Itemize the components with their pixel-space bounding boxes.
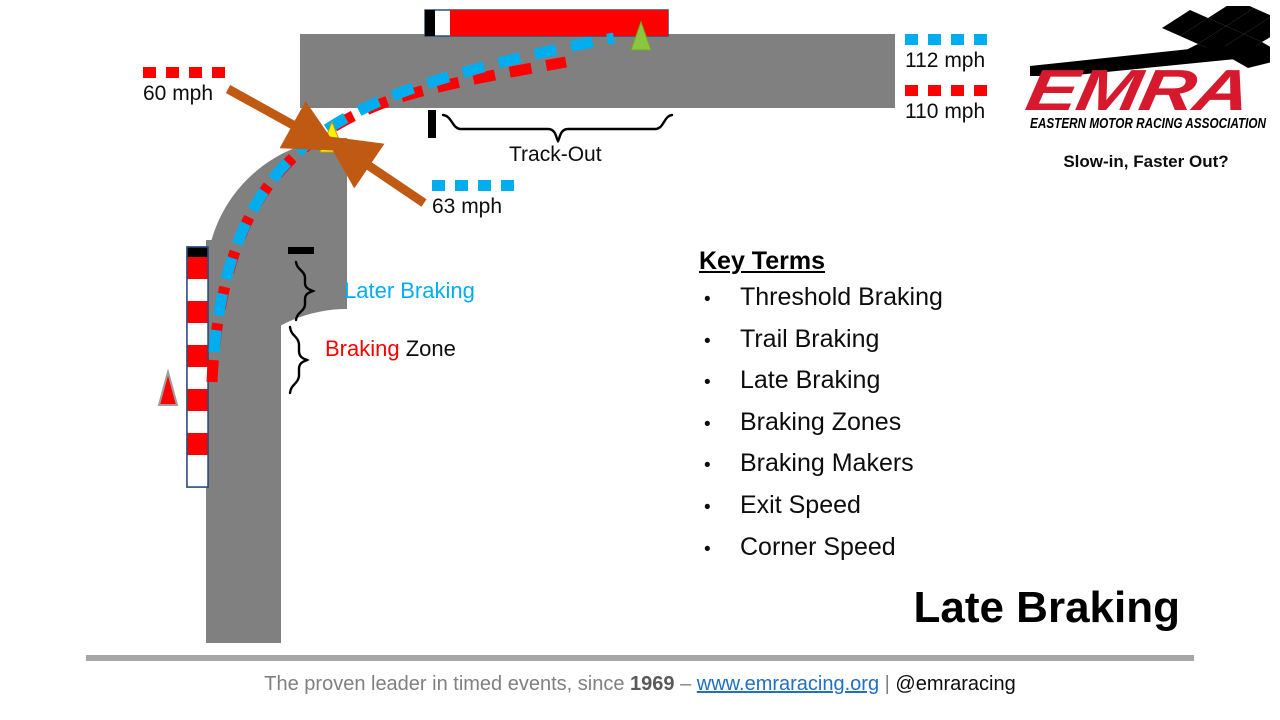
legend-exit-speed-red-label: 110 mph xyxy=(905,99,987,125)
braking-marker-cone-red xyxy=(159,372,177,405)
slide-title: Late Braking xyxy=(913,583,1180,633)
slide-canvas: 60 mph 63 mph 112 mph 110 mph Track-Out … xyxy=(0,0,1280,720)
later-braking-label: Later Braking xyxy=(344,278,475,304)
cyan-dash-swatch xyxy=(905,33,987,45)
braking-zone-tick xyxy=(288,247,314,254)
key-terms-title: Key Terms xyxy=(699,246,1029,276)
curb-top xyxy=(425,10,668,36)
track-out-label: Track-Out xyxy=(509,143,602,167)
footer-text: The proven leader in timed events, since… xyxy=(0,673,1280,696)
bullet-icon: • xyxy=(699,406,740,445)
legend-apex-speed: 63 mph xyxy=(432,179,514,220)
track-out-brace xyxy=(443,115,672,141)
legend-exit-speed-cyan-label: 112 mph xyxy=(905,48,987,74)
footer-dash: – xyxy=(675,673,697,695)
braking-zone-word-zone: Zone xyxy=(400,336,456,361)
logo-tagline: Slow-in, Faster Out? xyxy=(1022,152,1270,172)
bullet-icon: • xyxy=(699,489,740,528)
key-terms-item: • Braking Makers xyxy=(699,444,1029,486)
bullet-icon: • xyxy=(699,447,740,486)
legend-entry-speed: 60 mph xyxy=(143,66,225,107)
key-terms-item: • Braking Zones xyxy=(699,403,1029,445)
key-terms-item-label: Braking Zones xyxy=(740,403,901,442)
red-dash-swatch xyxy=(905,84,987,96)
emra-logo: EMRA EASTERN MOTOR RACING ASSOCIATION xyxy=(1022,6,1270,132)
track-out-tick xyxy=(428,110,436,138)
red-dash-swatch xyxy=(143,66,225,78)
cyan-dash-swatch xyxy=(432,179,514,191)
logo-subtext: EASTERN MOTOR RACING ASSOCIATION xyxy=(1030,116,1266,132)
key-terms-item: • Late Braking xyxy=(699,361,1029,403)
key-terms-item-label: Threshold Braking xyxy=(740,278,943,317)
footer-divider xyxy=(86,655,1194,661)
legend-exit-speed-red: 110 mph xyxy=(905,84,987,125)
legend-entry-speed-label: 60 mph xyxy=(143,81,225,107)
key-terms-item: • Trail Braking xyxy=(699,320,1029,362)
bullet-icon: • xyxy=(699,323,740,362)
footer-lead: The proven leader in timed events, since xyxy=(264,673,630,695)
footer-year: 1969 xyxy=(630,673,675,695)
bullet-icon: • xyxy=(699,364,740,403)
key-terms-item-label: Corner Speed xyxy=(740,528,896,567)
track-surface-horizontal xyxy=(347,34,895,108)
key-terms-item-label: Braking Makers xyxy=(740,444,914,483)
key-terms-item-label: Exit Speed xyxy=(740,486,861,525)
legend-apex-speed-label: 63 mph xyxy=(432,194,514,220)
bullet-icon: • xyxy=(699,281,740,320)
braking-zone-word-braking: Braking xyxy=(325,336,400,361)
key-terms-item-label: Late Braking xyxy=(740,361,880,400)
track-corner-patch-v xyxy=(206,240,281,300)
logo-wordmark: EMRA xyxy=(1022,58,1255,123)
curb-left xyxy=(187,247,208,487)
braking-zone-label: Braking Zone xyxy=(325,336,456,362)
footer-separator: | xyxy=(879,673,895,695)
brace-braking-zone xyxy=(290,327,307,393)
key-terms-item-label: Trail Braking xyxy=(740,320,879,359)
track-corner-patch-h xyxy=(300,34,360,108)
bullet-icon: • xyxy=(699,531,740,570)
footer-website-link[interactable]: www.emraracing.org xyxy=(697,673,879,695)
footer-social-handle: @emraracing xyxy=(895,673,1015,695)
arrow-to-apex-lower xyxy=(350,153,424,203)
key-terms-item: • Threshold Braking xyxy=(699,278,1029,320)
legend-exit-speed-cyan: 112 mph xyxy=(905,33,987,74)
key-terms-item: • Exit Speed xyxy=(699,486,1029,528)
key-terms-block: Key Terms • Threshold Braking • Trail Br… xyxy=(699,246,1029,569)
key-terms-item: • Corner Speed xyxy=(699,528,1029,570)
